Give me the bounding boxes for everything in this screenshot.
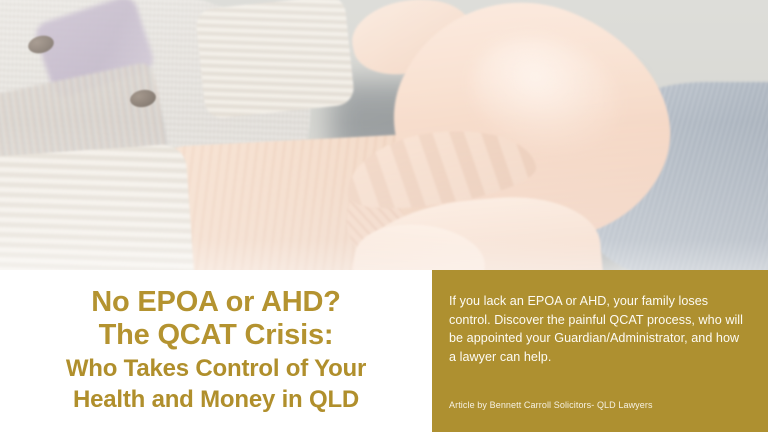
headline-line-2: The QCAT Crisis: [99,319,334,352]
summary-panel: If you lack an EPOA or AHD, your family … [432,270,768,432]
headline-panel: No EPOA or AHD? The QCAT Crisis: Who Tak… [0,270,432,432]
hero-photo [0,0,768,272]
cream-cuff-lower [0,143,194,272]
summary-byline: Article by Bennett Carroll Solicitors- Q… [449,400,748,422]
headline-line-4: Health and Money in QLD [73,386,359,414]
summary-body: If you lack an EPOA or AHD, your family … [449,292,748,366]
headline-line-3: Who Takes Control of Your [66,355,366,383]
cream-cuff-upper [195,0,356,120]
caption-panels: No EPOA or AHD? The QCAT Crisis: Who Tak… [0,270,768,432]
hero-banner: No EPOA or AHD? The QCAT Crisis: Who Tak… [0,0,768,432]
headline-line-1: No EPOA or AHD? [91,286,340,319]
